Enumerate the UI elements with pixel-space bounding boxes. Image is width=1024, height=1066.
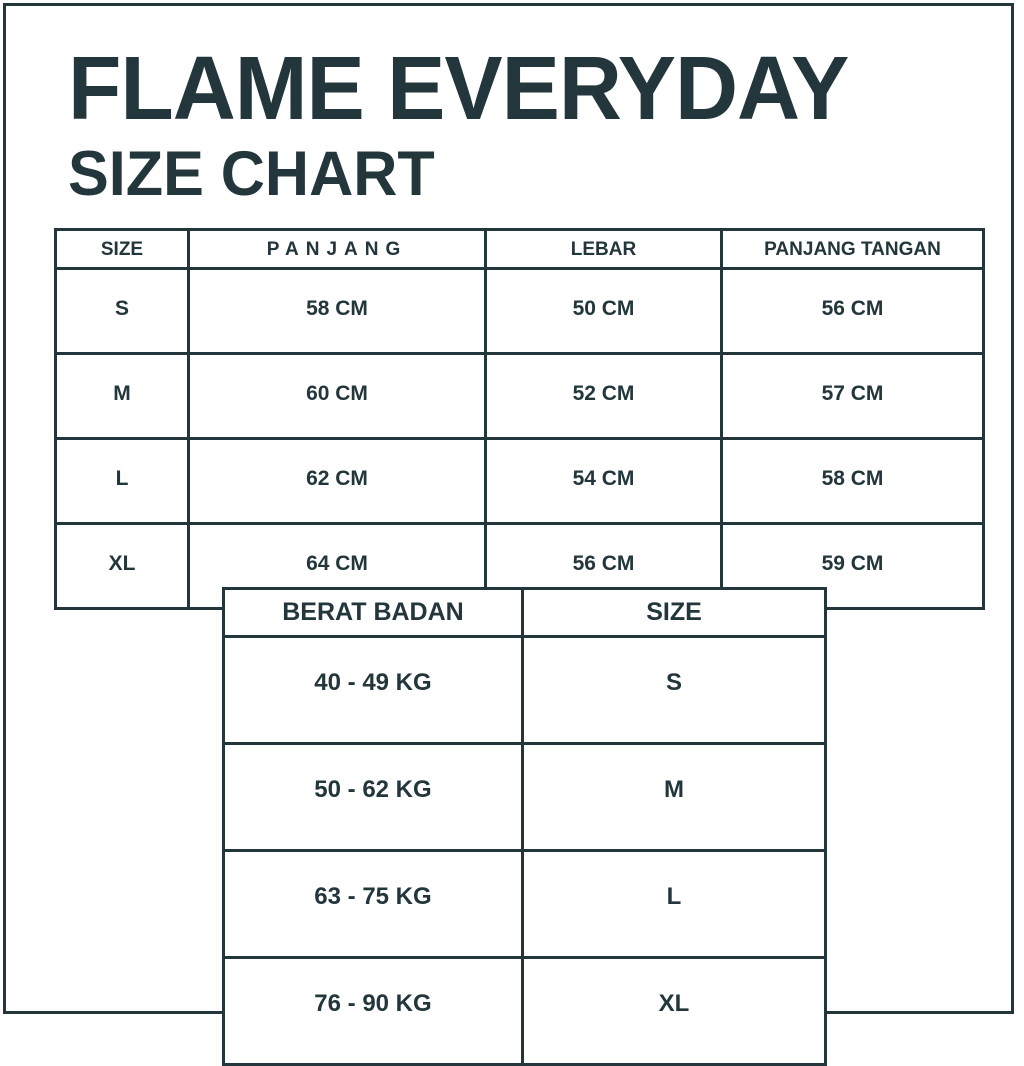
cell-size: XL [523, 958, 826, 1065]
cell-panjang: 58 CM [189, 269, 486, 354]
brand-title: FLAME EVERYDAY [68, 44, 960, 134]
size-chart-page: FLAME EVERYDAY SIZE CHART SIZE PANJANG L… [0, 0, 1024, 1024]
weight-table: BERAT BADAN SIZE 40 - 49 KG S 50 - 62 KG… [222, 587, 827, 1066]
column-header-lebar: LEBAR [486, 230, 722, 269]
cell-panjang-tangan: 57 CM [722, 354, 984, 439]
cell-lebar: 54 CM [486, 439, 722, 524]
table-header-row: SIZE PANJANG LEBAR PANJANG TANGAN [56, 230, 984, 269]
table-row: M 60 CM 52 CM 57 CM [56, 354, 984, 439]
table-row: 63 - 75 KG L [224, 851, 826, 958]
cell-size: S [56, 269, 189, 354]
cell-lebar: 52 CM [486, 354, 722, 439]
cell-panjang-tangan: 58 CM [722, 439, 984, 524]
page-title: SIZE CHART [68, 142, 960, 206]
cell-berat-badan: 76 - 90 KG [224, 958, 523, 1065]
table-row: 40 - 49 KG S [224, 637, 826, 744]
cell-panjang: 60 CM [189, 354, 486, 439]
cell-size: M [56, 354, 189, 439]
table-row: L 62 CM 54 CM 58 CM [56, 439, 984, 524]
table-row: 76 - 90 KG XL [224, 958, 826, 1065]
cell-berat-badan: 50 - 62 KG [224, 744, 523, 851]
outer-frame: FLAME EVERYDAY SIZE CHART SIZE PANJANG L… [3, 3, 1014, 1014]
cell-panjang: 62 CM [189, 439, 486, 524]
cell-size: XL [56, 524, 189, 609]
column-header-panjang: PANJANG [189, 230, 486, 269]
table-row: S 58 CM 50 CM 56 CM [56, 269, 984, 354]
column-header-size: SIZE [523, 589, 826, 637]
cell-panjang-tangan: 56 CM [722, 269, 984, 354]
heading-block: FLAME EVERYDAY SIZE CHART [68, 44, 988, 206]
column-header-panjang-tangan: PANJANG TANGAN [722, 230, 984, 269]
cell-berat-badan: 63 - 75 KG [224, 851, 523, 958]
table-row: 50 - 62 KG M [224, 744, 826, 851]
measurement-table: SIZE PANJANG LEBAR PANJANG TANGAN S 58 C… [54, 228, 985, 610]
column-header-size: SIZE [56, 230, 189, 269]
table-header-row: BERAT BADAN SIZE [224, 589, 826, 637]
cell-berat-badan: 40 - 49 KG [224, 637, 523, 744]
column-header-berat-badan: BERAT BADAN [224, 589, 523, 637]
cell-size: S [523, 637, 826, 744]
cell-lebar: 50 CM [486, 269, 722, 354]
cell-size: L [56, 439, 189, 524]
cell-size: M [523, 744, 826, 851]
cell-size: L [523, 851, 826, 958]
